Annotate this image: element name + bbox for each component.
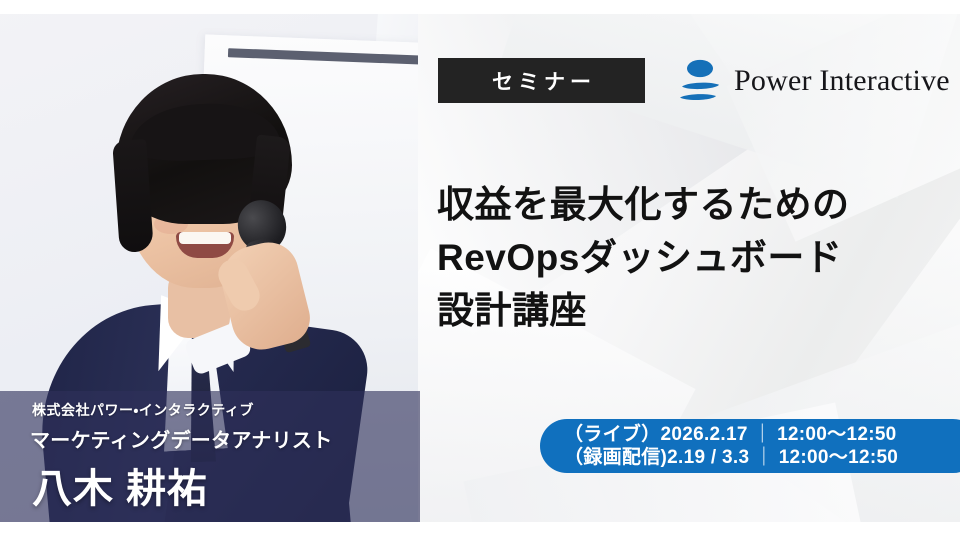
schedule-live-date: 2026.2.17 (661, 424, 748, 445)
title-line-3: 設計講座 (437, 284, 850, 337)
schedule-live-separator: ｜ (748, 424, 777, 445)
seminar-badge-label: セミナー (487, 66, 596, 96)
seminar-badge: セミナー (438, 58, 645, 103)
letterbox-bottom (0, 522, 960, 540)
brand-logo: Power Interactive (676, 57, 950, 105)
person-silhouette-icon (676, 58, 728, 104)
speaker-role: マーケティングデータアナリスト (30, 424, 333, 453)
schedule-recorded-time: 12:00〜12:50 (779, 447, 899, 468)
schedule-recorded-date: 2.19 / 3.3 (667, 447, 749, 468)
schedule-live-line: （ライブ）2026.2.17｜12:00〜12:50 (564, 423, 960, 446)
speaker-name: 八木 耕祐 (32, 456, 208, 514)
seminar-banner: 株式会社パワー・インタラクティブ マーケティングデータアナリスト 八木 耕祐 セ… (0, 0, 960, 540)
title-line-1: 収益を最大化するための (437, 178, 850, 231)
photo-teeth (179, 232, 231, 244)
schedule-recorded-line: （録画配信)2.19 / 3.3｜12:00〜12:50 (564, 446, 960, 469)
letterbox-top (0, 0, 960, 14)
brand-name: Power Interactive (734, 64, 950, 98)
schedule-recorded-separator: ｜ (749, 447, 778, 468)
speaker-company: 株式会社パワー・インタラクティブ (32, 400, 254, 420)
schedule-badge: （ライブ）2026.2.17｜12:00〜12:50 （録画配信)2.19 / … (540, 419, 960, 473)
schedule-live-type: （ライブ） (564, 424, 661, 445)
page-title: 収益を最大化するための RevOpsダッシュボード 設計講座 (437, 178, 850, 337)
schedule-recorded-type: （録画配信) (564, 447, 667, 468)
title-line-2: RevOpsダッシュボード (437, 231, 850, 284)
schedule-live-time: 12:00〜12:50 (777, 424, 897, 445)
